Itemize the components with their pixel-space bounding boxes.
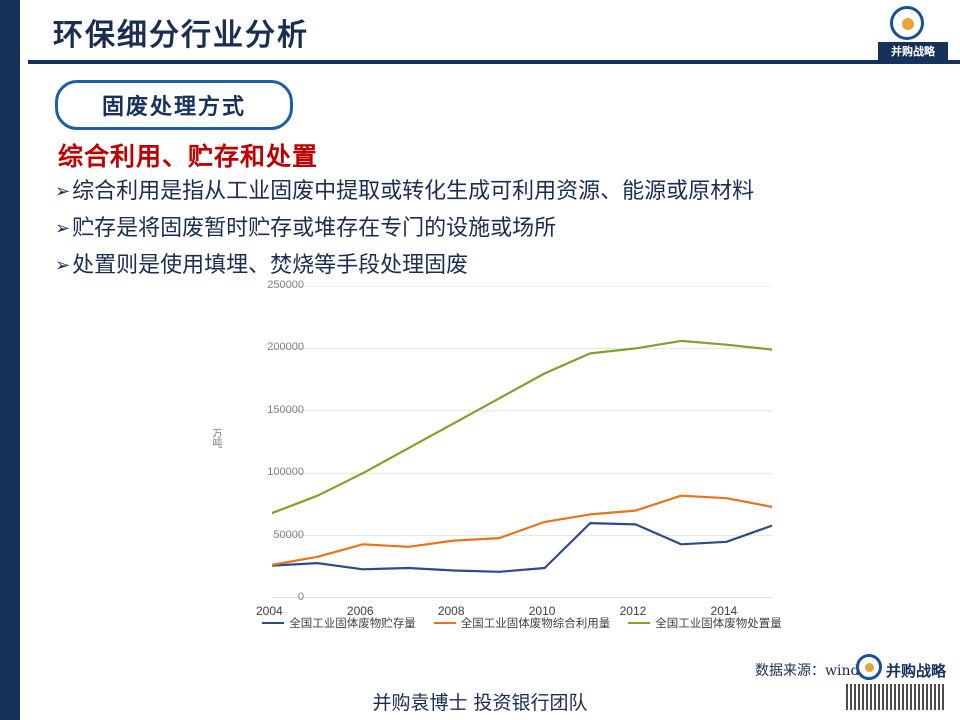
- chart-legend-swatch: [262, 622, 284, 624]
- left-accent-bar-inner: [20, 0, 28, 720]
- section-subtitle: 综合利用、贮存和处置: [58, 137, 318, 173]
- list-item-text: 贮存是将固废暂时贮存或堆存在专门的设施或场所: [72, 213, 556, 244]
- chart-svg: [272, 286, 772, 598]
- list-item: ➢ 贮存是将固废暂时贮存或堆存在专门的设施或场所: [55, 213, 945, 244]
- qr-eye-icon: [856, 654, 882, 680]
- chart-plot-area: [272, 286, 772, 598]
- chart-container: 万吨 050000100000150000200000250000 200420…: [190, 278, 810, 643]
- chart-y-tick-label: 200000: [234, 341, 304, 353]
- bullet-marker-icon: ➢: [55, 213, 70, 244]
- chart-legend-swatch: [628, 622, 650, 624]
- chart-legend-item: 全国工业固体废物贮存量: [262, 615, 416, 631]
- qr-block: 并购战略: [842, 652, 950, 714]
- chart-legend: 全国工业固体废物贮存量全国工业固体废物综合利用量全国工业固体废物处置量: [234, 615, 810, 631]
- list-item: ➢ 处置则是使用填埋、焚烧等手段处理固废: [55, 250, 945, 281]
- list-item-text: 处置则是使用填埋、焚烧等手段处理固废: [72, 250, 468, 281]
- header-divider: [28, 60, 960, 64]
- left-accent-bar: [0, 0, 28, 720]
- slide-header: 环保细分行业分析 并购战略: [28, 0, 960, 62]
- section-pill-label: 固废处理方式: [102, 89, 246, 121]
- bullet-list: ➢ 综合利用是指从工业固废中提取或转化生成可利用资源、能源或原材料 ➢ 贮存是将…: [55, 176, 945, 287]
- chart-legend-label: 全国工业固体废物贮存量: [289, 615, 416, 631]
- chart-y-tick-label: 150000: [234, 404, 304, 416]
- list-item: ➢ 综合利用是指从工业固废中提取或转化生成可利用资源、能源或原材料: [55, 176, 945, 207]
- eye-logo-icon: [890, 6, 924, 40]
- brand-logo-label: 并购战略: [878, 42, 948, 60]
- chart-y-axis-label: 万吨: [208, 428, 223, 448]
- qr-code-image: [846, 684, 946, 710]
- list-item-text: 综合利用是指从工业固废中提取或转化生成可利用资源、能源或原材料: [72, 176, 754, 207]
- chart-y-tick-label: 100000: [234, 466, 304, 478]
- chart-y-tick-label: 50000: [234, 529, 304, 541]
- chart-legend-label: 全国工业固体废物处置量: [655, 615, 782, 631]
- page-title: 环保细分行业分析: [53, 10, 309, 54]
- chart-legend-swatch: [434, 622, 456, 624]
- chart-legend-item: 全国工业固体废物综合利用量: [434, 615, 611, 631]
- footer-text: 并购袁博士 投资银行团队: [0, 688, 960, 715]
- qr-label: 并购战略: [886, 660, 946, 681]
- section-pill: 固废处理方式: [55, 80, 293, 130]
- chart-legend-item: 全国工业固体废物处置量: [628, 615, 782, 631]
- bullet-marker-icon: ➢: [55, 250, 70, 281]
- chart-y-tick-label: 250000: [234, 279, 304, 291]
- chart-y-tick-label: 0: [234, 591, 304, 603]
- chart-legend-label: 全国工业固体废物综合利用量: [461, 615, 611, 631]
- bullet-marker-icon: ➢: [55, 176, 70, 207]
- brand-logo: 并购战略: [878, 6, 948, 58]
